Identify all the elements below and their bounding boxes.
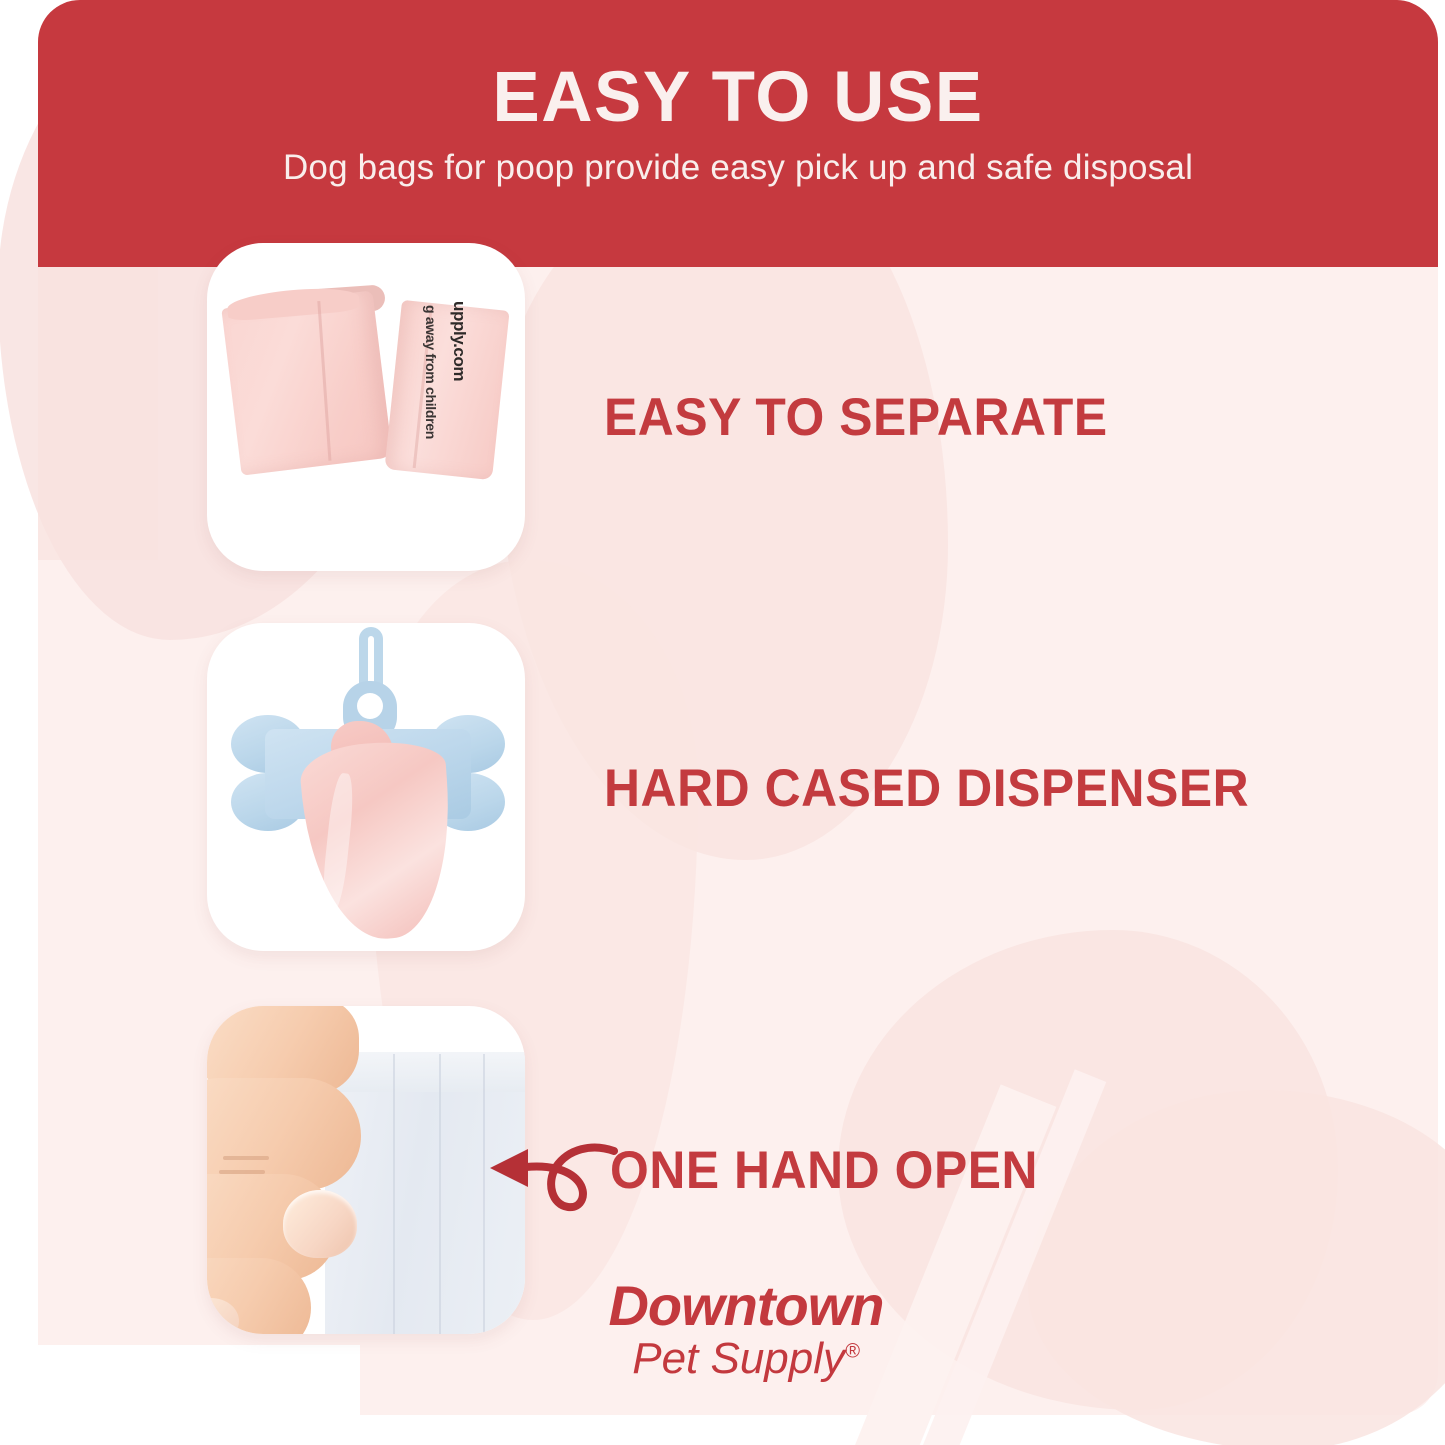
background-left-strip-fade (38, 560, 158, 1415)
feature-label-one-hand-open: ONE HAND OPEN (610, 1140, 1038, 1201)
bag-print-warning-text: g away from children (423, 305, 439, 439)
pink-bag-right-icon (384, 300, 509, 480)
brand-logo: Downtown Pet Supply® (556, 1278, 936, 1390)
background-white-bottom (0, 1345, 360, 1445)
brand-logo-line2: Pet Supply® (556, 1334, 936, 1385)
knuckle-crease (223, 1156, 269, 1160)
knuckle-crease (219, 1170, 265, 1174)
brand-logo-line1: Downtown (556, 1278, 936, 1334)
pink-bag-dispensed-icon (298, 738, 457, 944)
header-banner: EASY TO USE Dog bags for poop provide ea… (38, 0, 1438, 267)
curly-arrow-icon (482, 1125, 622, 1235)
feature-label-easy-to-separate: EASY TO SEPARATE (604, 387, 1108, 448)
hand-icon (207, 1006, 391, 1334)
feature-image-hard-cased-dispenser (207, 623, 525, 951)
bag-crease (393, 1054, 395, 1334)
bag-fold-line (317, 301, 331, 461)
page-title: EASY TO USE (38, 62, 1438, 133)
brand-logo-line2-text: Pet Supply (632, 1334, 845, 1383)
bag-print-brand-text: upply.com (449, 301, 469, 381)
pink-bag-left-icon (221, 290, 392, 475)
infographic-poster: EASY TO USE Dog bags for poop provide ea… (0, 0, 1445, 1445)
feature-image-easy-to-separate: upply.com g away from children (207, 243, 525, 571)
thumbnail-icon (283, 1190, 357, 1258)
registered-mark: ® (845, 1340, 860, 1362)
bag-crease (439, 1054, 441, 1334)
feature-image-one-hand-open (207, 1006, 525, 1334)
feature-label-hard-cased-dispenser: HARD CASED DISPENSER (604, 758, 1249, 819)
page-subtitle: Dog bags for poop provide easy pick up a… (38, 148, 1438, 188)
